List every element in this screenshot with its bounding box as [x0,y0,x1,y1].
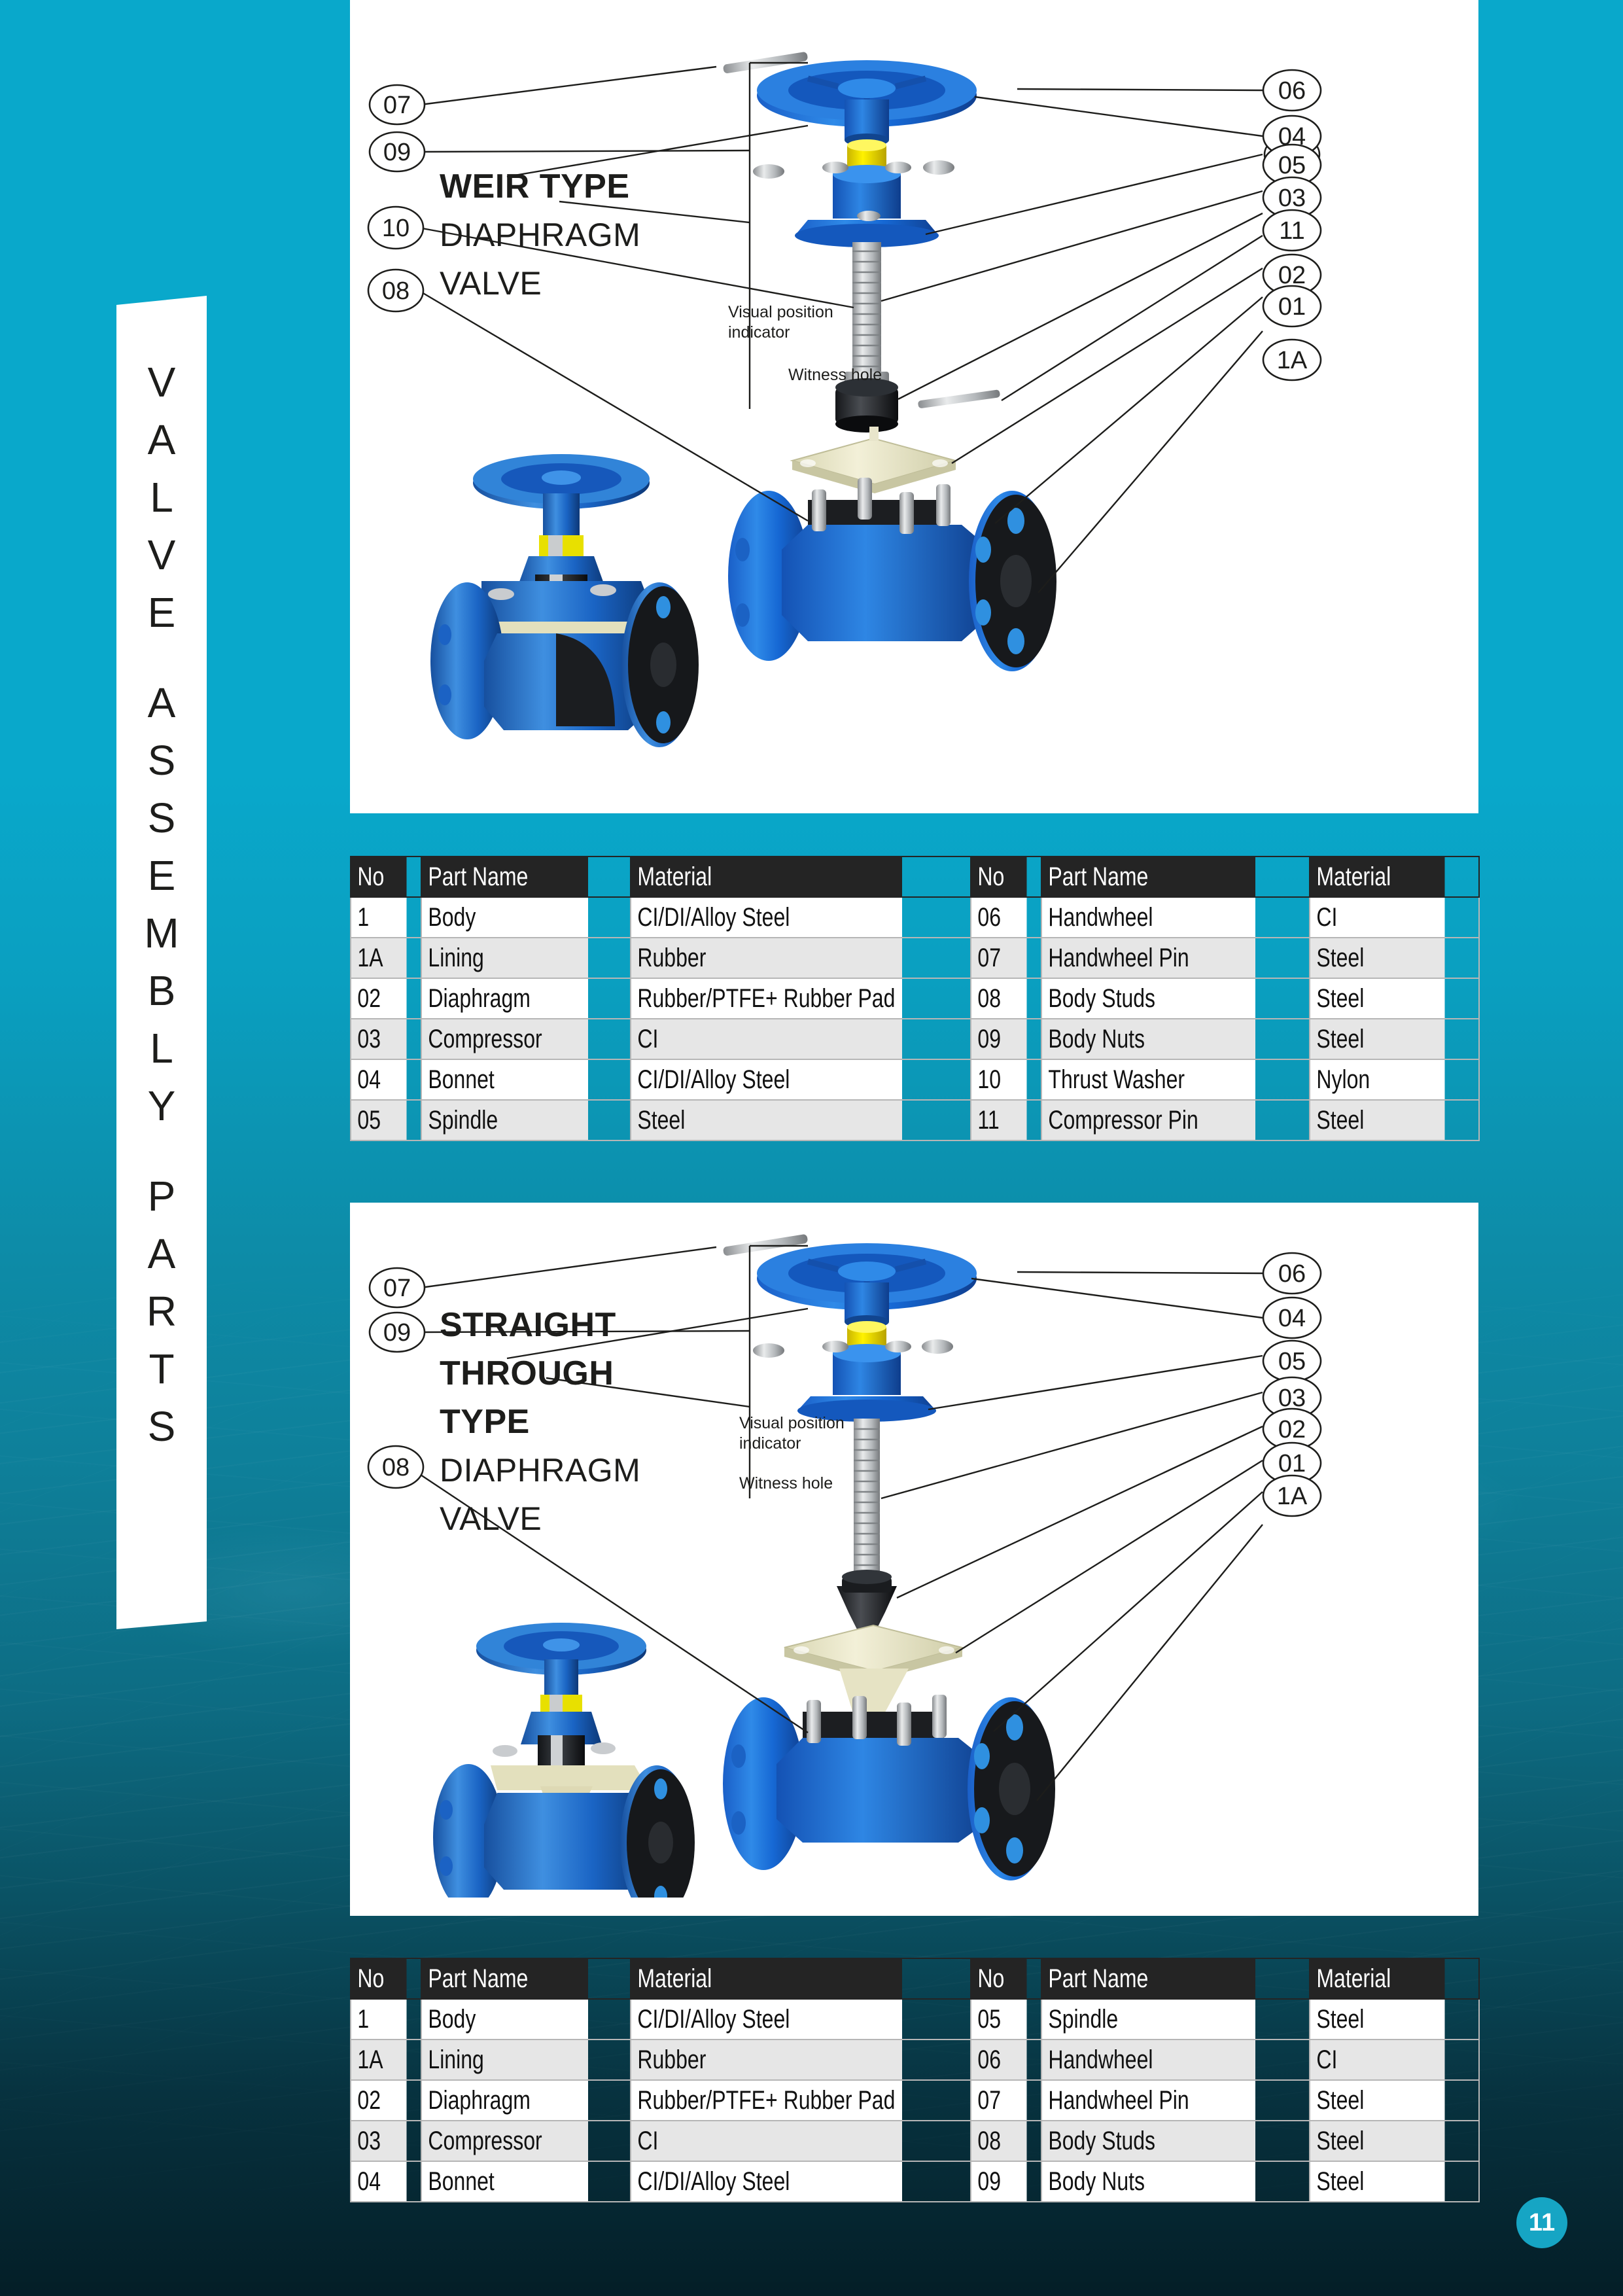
cell-no-2: 05 [971,1999,1027,2040]
banner-letter: M [144,904,179,962]
valve-body-part [723,1695,1055,1881]
cell-part: Spindle [421,1100,589,1140]
spindle-part [845,242,889,383]
svg-text:05: 05 [1278,141,1306,168]
visual-position-indicator-label: Visual position indicator [728,302,833,343]
cell-material-2: Steel [1310,2121,1445,2161]
cell-material-2: CI [1310,897,1445,938]
cell-material: Steel [631,1100,903,1140]
col-no: No [351,857,407,897]
straight-parts-table: No Part Name Material No Part Name Mater… [350,1958,1480,2202]
cell-material: CI [631,1019,903,1059]
cell-no-2: 06 [971,2040,1027,2080]
col-mat: Material [631,857,903,897]
cell-part: Lining [421,2040,589,2080]
cell-part: Lining [421,938,589,978]
cell-no-2: 11 [971,1100,1027,1140]
table-header-row: No Part Name Material No Part Name Mater… [351,857,1479,897]
bonnet-part [797,1341,936,1422]
cell-no: 05 [351,1100,407,1140]
cell-material-2: Steel [1310,1999,1445,2040]
cell-part: Bonnet [421,2161,589,2202]
banner-letter: Y [148,1077,176,1135]
valve-body-part [728,478,1056,671]
visual-position-indicator-label-2: Visual position indicator [739,1413,845,1454]
table-row: 03CompressorCI09Body NutsSteel [351,1019,1479,1059]
body-nut-part [753,1343,784,1358]
banner-letter: P [148,1167,176,1225]
side-banner: V A L V E A S S E M B L Y P A R T S [116,296,207,1629]
cell-material-2: CI [1310,2040,1445,2080]
cell-part: Diaphragm [421,2080,589,2121]
col-mat-2: Material [1310,1958,1445,1999]
page-number-badge: 11 [1516,2197,1567,2248]
cell-part-2: Handwheel Pin [1041,938,1256,978]
banner-letter: V [148,526,176,584]
cell-no: 1A [351,938,407,978]
table-row: 04BonnetCI/DI/Alloy Steel09Body NutsStee… [351,2161,1479,2202]
banner-letter: L [150,1019,173,1077]
table-row: 1ALiningRubber07Handwheel PinSteel [351,938,1479,978]
banner-letter: E [148,584,176,641]
callout-05: 05 [1265,135,1319,174]
compressor-pin-part [918,389,1000,408]
banner-letter: A [148,674,176,732]
col-mat-2: Material [1310,857,1445,897]
banner-letter: L [150,468,173,526]
cell-part: Body [421,1999,589,2040]
cell-no: 1A [351,2040,407,2080]
handwheel-part [757,60,977,147]
cell-material: CI/DI/Alloy Steel [631,2161,903,2202]
witness-hole-label-2: Witness hole [739,1474,833,1494]
cell-part-2: Handwheel Pin [1041,2080,1256,2121]
cell-material: Rubber/PTFE+ Rubber Pad [631,978,903,1019]
col-no-2: No [971,1958,1027,1999]
col-part-2: Part Name [1041,1958,1256,1999]
table-row: 1BodyCI/DI/Alloy Steel05SpindleSteel [351,1999,1479,2040]
banner-letter: T [148,1340,174,1398]
banner-letter: S [148,789,176,847]
cell-part-2: Handwheel [1041,2040,1256,2080]
cell-no: 03 [351,1019,407,1059]
table-row: 02DiaphragmRubber/PTFE+ Rubber Pad08Body… [351,978,1479,1019]
banner-letter: V [148,353,176,411]
weir-valve-assembled-image [419,425,720,752]
table-row: 1ALiningRubber06HandwheelCI [351,2040,1479,2080]
cell-material: CI/DI/Alloy Steel [631,1999,903,2040]
cell-part-2: Thrust Washer [1041,1059,1256,1100]
cell-no: 03 [351,2121,407,2161]
cell-material: CI/DI/Alloy Steel [631,1059,903,1100]
cell-no: 02 [351,978,407,1019]
callout-06: 06 [1265,71,1319,110]
cell-material-2: Steel [1310,2080,1445,2121]
cell-material-2: Steel [1310,2161,1445,2202]
cell-no-2: 07 [971,2080,1027,2121]
table-row: 02DiaphragmRubber/PTFE+ Rubber Pad07Hand… [351,2080,1479,2121]
banner-letter: S [148,732,176,789]
banner-letter: R [147,1282,177,1340]
straight-valve-assembled-image [419,1597,720,1898]
table-row: 05SpindleSteel11Compressor PinSteel [351,1100,1479,1140]
cell-no: 1 [351,1999,407,2040]
cell-part: Body [421,897,589,938]
cell-material: CI/DI/Alloy Steel [631,897,903,938]
cell-no: 1 [351,897,407,938]
col-no: No [351,1958,407,1999]
cell-part: Compressor [421,1019,589,1059]
cell-no: 04 [351,1059,407,1100]
banner-letters: V A L V E A S S E M B L Y P A R T S [116,296,207,1629]
col-part-2: Part Name [1041,857,1256,897]
cell-material: Rubber [631,938,903,978]
cell-no-2: 09 [971,1019,1027,1059]
col-part: Part Name [421,857,589,897]
cell-no-2: 09 [971,2161,1027,2202]
table-row: 03CompressorCI08Body StudsSteel [351,2121,1479,2161]
cell-part-2: Spindle [1041,1999,1256,2040]
cell-part: Bonnet [421,1059,589,1100]
col-no-2: No [971,857,1027,897]
body-nut-part [922,1339,953,1354]
cell-material: Rubber [631,2040,903,2080]
col-mat: Material [631,1958,903,1999]
table-row: 04BonnetCI/DI/Alloy Steel10Thrust Washer… [351,1059,1479,1100]
cell-no: 04 [351,2161,407,2202]
cell-part-2: Compressor Pin [1041,1100,1256,1140]
cell-no-2: 08 [971,2121,1027,2161]
banner-letter: A [148,411,176,468]
banner-letter: S [148,1398,176,1455]
banner-letter: E [148,847,176,904]
cell-part-2: Handwheel [1041,897,1256,938]
table-header-row: No Part Name Material No Part Name Mater… [351,1958,1479,1999]
table-row: 1BodyCI/DI/Alloy Steel06HandwheelCI [351,897,1479,938]
cell-material: Rubber/PTFE+ Rubber Pad [631,2080,903,2121]
witness-hole-label: Witness hole [788,365,882,385]
cell-part: Diaphragm [421,978,589,1019]
callout-group-right: 06 04 05 [1265,71,1319,174]
handwheel-part [757,1243,977,1328]
spindle-part [854,1419,880,1574]
cell-material-2: Steel [1310,938,1445,978]
cell-part-2: Body Studs [1041,978,1256,1019]
cell-no-2: 06 [971,897,1027,938]
weir-parts-table: No Part Name Material No Part Name Mater… [350,856,1480,1141]
bonnet-part [795,162,939,247]
cell-no-2: 10 [971,1059,1027,1100]
cell-material-2: Steel [1310,978,1445,1019]
cell-material: CI [631,2121,903,2161]
banner-letter: B [148,962,176,1019]
cell-part-2: Body Studs [1041,2121,1256,2161]
cell-no-2: 08 [971,978,1027,1019]
diaphragm-part [792,427,956,493]
cell-part-2: Body Nuts [1041,2161,1256,2202]
svg-text:06: 06 [1278,77,1306,104]
compressor-part [835,378,898,433]
banner-letter: A [148,1225,176,1282]
cell-part-2: Body Nuts [1041,1019,1256,1059]
body-nut-part [753,164,784,179]
cell-no: 02 [351,2080,407,2121]
cell-material-2: Nylon [1310,1059,1445,1100]
cell-no-2: 07 [971,938,1027,978]
cell-material-2: Steel [1310,1100,1445,1140]
col-part: Part Name [421,1958,589,1999]
body-nut-part [923,160,954,175]
cell-material-2: Steel [1310,1019,1445,1059]
cell-part: Compressor [421,2121,589,2161]
